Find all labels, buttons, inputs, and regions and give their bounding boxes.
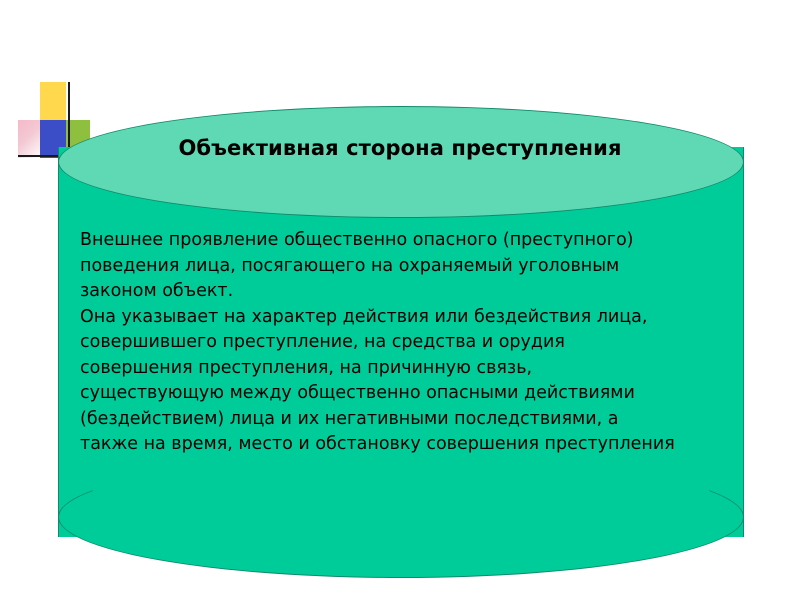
cylinder-top-ellipse	[58, 106, 744, 218]
cylinder-bottom-ellipse	[58, 456, 744, 578]
slide-body-text: Внешнее проявление общественно опасного …	[80, 228, 680, 458]
slide-title: Объективная сторона преступления	[0, 136, 800, 160]
